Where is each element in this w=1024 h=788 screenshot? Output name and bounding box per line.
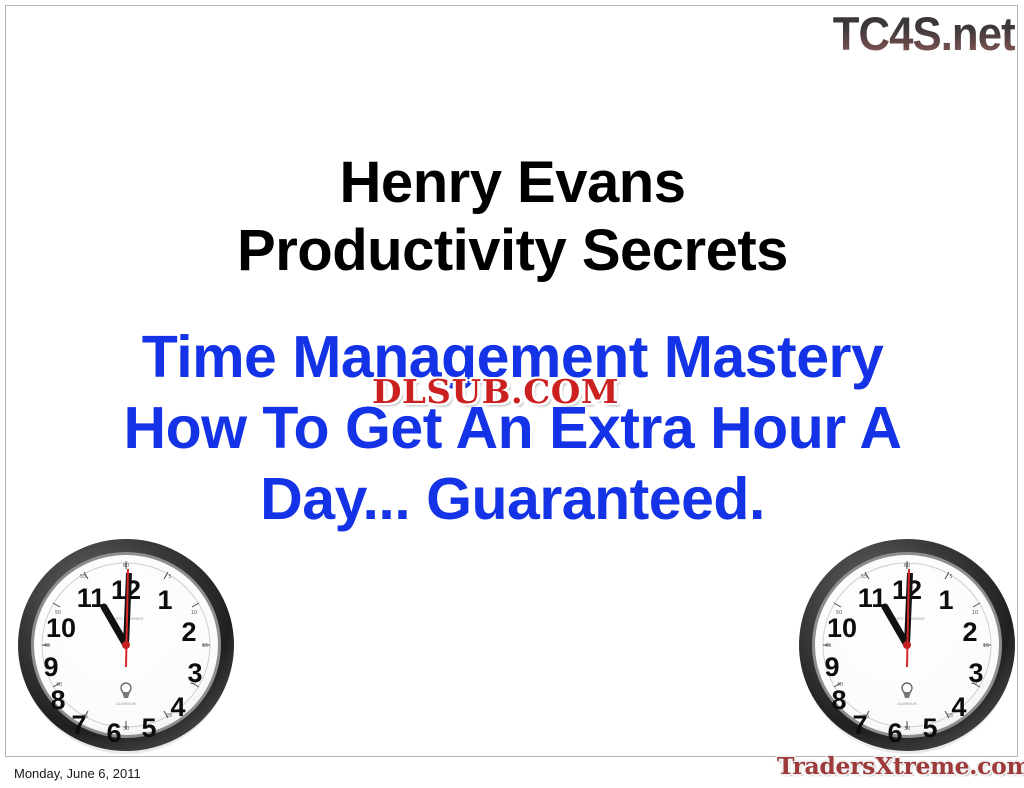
slide-canvas: TC4S.net TC4S.net Henry Evans Productivi… [5,5,1018,757]
svg-text:45: 45 [44,643,50,649]
svg-text:7: 7 [852,710,867,740]
title-line-1: Henry Evans [6,149,1018,217]
svg-text:ALUMINUM: ALUMINUM [897,702,917,706]
svg-text:55: 55 [861,574,867,580]
slide-title-block: Henry Evans Productivity Secrets [6,149,1018,285]
presentation-slide-viewer: TC4S.net TC4S.net Henry Evans Productivi… [0,0,1024,788]
svg-text:8: 8 [50,685,65,715]
svg-text:7: 7 [71,710,86,740]
svg-text:2: 2 [962,617,977,647]
svg-text:6: 6 [106,718,121,748]
svg-text:10: 10 [972,610,978,616]
svg-text:10: 10 [191,610,197,616]
svg-text:15: 15 [202,643,208,649]
svg-text:9: 9 [824,652,839,682]
svg-text:55: 55 [80,574,86,580]
tc4s-brand-logo: TC4S.net [833,8,1015,60]
svg-text:5: 5 [141,713,156,743]
dlsub-watermark: DLSUB.COM [372,374,619,410]
tradersxtreme-watermark: TradersXtreme.com [777,753,1024,780]
svg-text:4: 4 [170,692,185,722]
svg-text:6: 6 [887,718,902,748]
svg-text:5: 5 [922,713,937,743]
svg-text:3: 3 [968,658,983,688]
title-line-2: Productivity Secrets [6,217,1018,285]
svg-text:10: 10 [46,613,76,643]
svg-text:60: 60 [904,563,910,569]
svg-text:2: 2 [181,617,196,647]
svg-text:1: 1 [157,585,172,615]
svg-text:5: 5 [949,574,952,580]
svg-text:4: 4 [951,692,966,722]
svg-text:5: 5 [168,574,171,580]
svg-text:8: 8 [831,685,846,715]
svg-text:1: 1 [938,585,953,615]
svg-text:30: 30 [904,726,910,732]
svg-text:3: 3 [187,658,202,688]
svg-text:45: 45 [825,643,831,649]
svg-text:60: 60 [123,563,129,569]
footer-date-label: Monday, June 6, 2011 [14,766,141,782]
svg-text:9: 9 [43,652,58,682]
slide-subtitle-block: Time Management Mastery How To Get An Ex… [6,322,1018,535]
wall-clock-left-image: 60 15 30 45 5 10 20 25 35 40 50 55 12 1 … [15,534,237,756]
subtitle-line-3: Day... Guaranteed. [6,464,1018,535]
wall-clock-right-image: 60 15 30 45 5 10 20 25 35 40 50 55 12 1 … [796,534,1018,756]
svg-text:15: 15 [983,643,989,649]
svg-text:ALUMINUM: ALUMINUM [116,702,136,706]
svg-text:30: 30 [123,726,129,732]
svg-text:10: 10 [827,613,857,643]
